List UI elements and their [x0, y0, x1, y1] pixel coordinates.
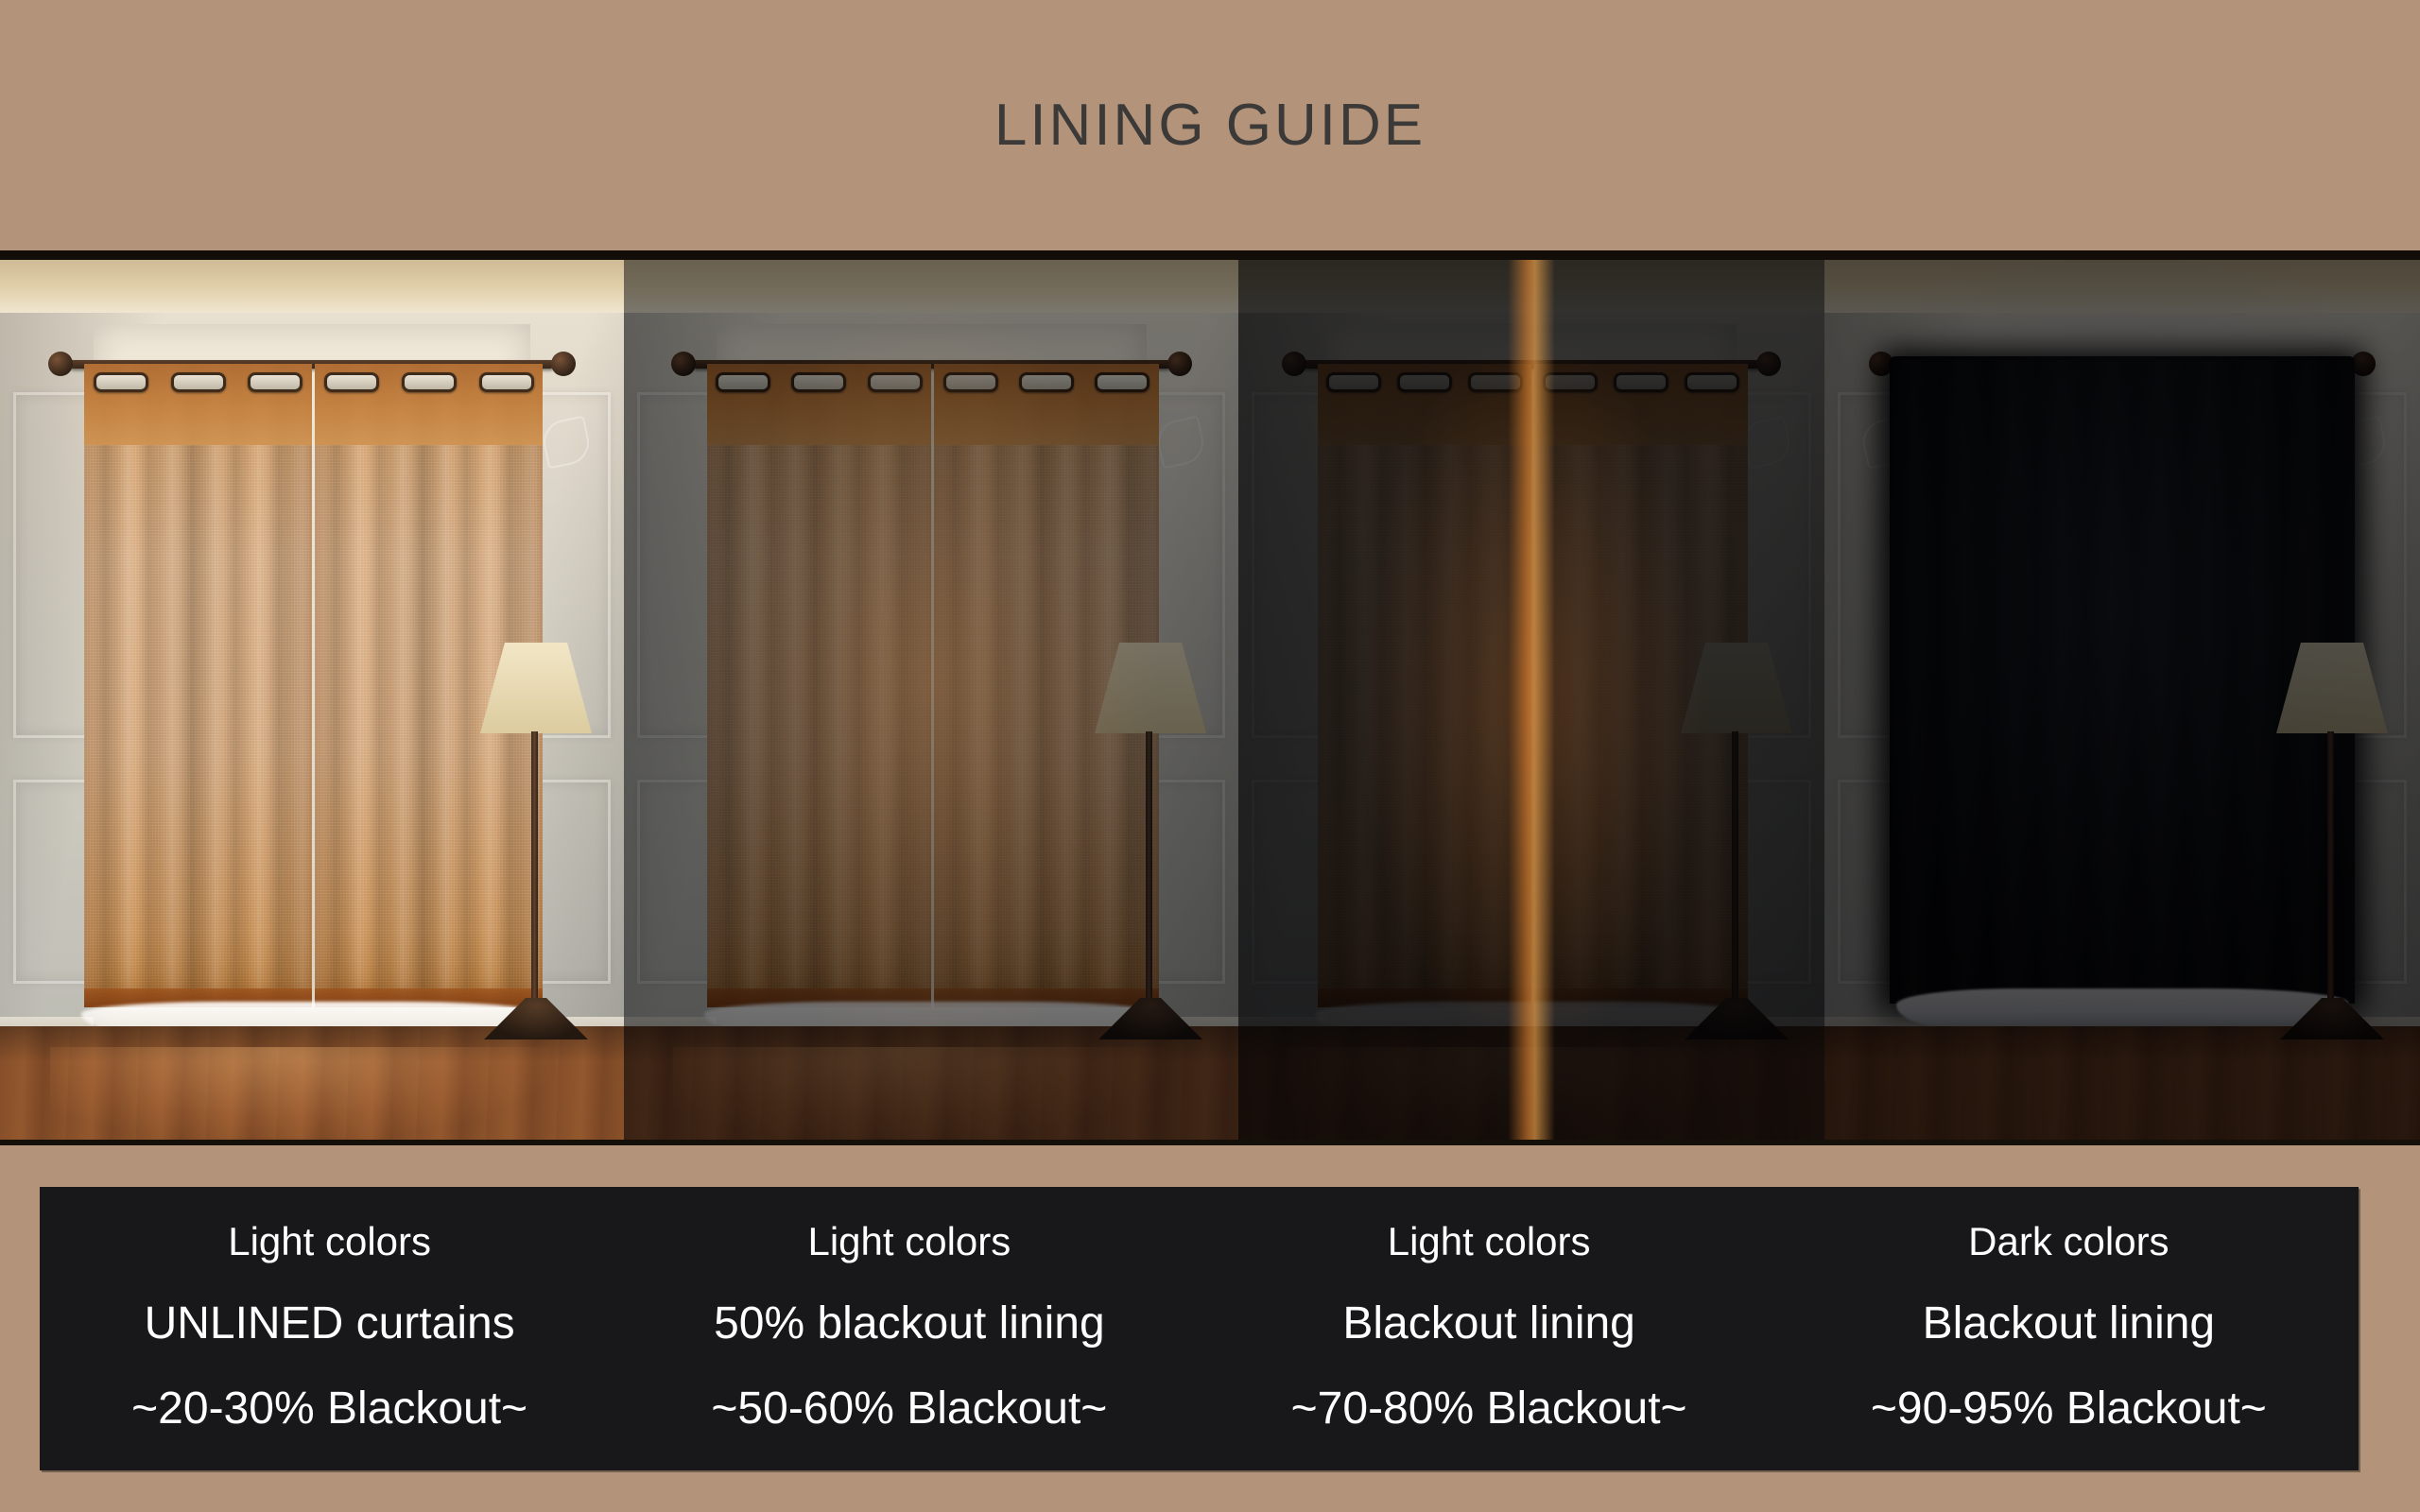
- caption-color-type: Dark colors: [1968, 1221, 2169, 1263]
- curtain-photo-unlined: [0, 250, 624, 1145]
- lamp-base: [484, 998, 588, 1039]
- rod-finial-left-icon: [48, 352, 73, 376]
- grommet-row: [1326, 371, 1523, 392]
- grommet-row: [324, 371, 534, 392]
- room-scene-3: [1238, 250, 1824, 1145]
- curtain-weave-texture: [1318, 364, 1531, 1007]
- grommet-icon: [171, 372, 226, 392]
- caption-column-blackout: Light colors Blackout lining ~70-80% Bla…: [1200, 1187, 1779, 1470]
- curtain-panel-left: [1318, 364, 1531, 1007]
- caption-lining-type: UNLINED curtains: [145, 1300, 515, 1348]
- grommet-icon: [868, 372, 923, 392]
- moulding-ornament-icon: [1154, 416, 1208, 470]
- caption-color-type: Light colors: [807, 1221, 1011, 1263]
- wood-floor: [1824, 1026, 2420, 1145]
- ceiling: [0, 250, 624, 315]
- curtain-photo-dark-blackout: [1824, 250, 2420, 1145]
- grommet-icon: [1685, 372, 1739, 392]
- rod-finial-left-icon: [1282, 352, 1306, 376]
- grommet-icon: [1614, 372, 1668, 392]
- strip-bottom-edge: [0, 1140, 2420, 1145]
- room-scene-2: [624, 250, 1238, 1145]
- caption-color-type: Light colors: [1388, 1221, 1591, 1263]
- lamp-base: [1098, 998, 1202, 1039]
- caption-blackout-range: ~50-60% Blackout~: [711, 1385, 1107, 1433]
- grommet-icon: [1019, 372, 1074, 392]
- room-scene-1: [0, 250, 624, 1145]
- lamp-pole: [1732, 731, 1738, 1004]
- grommet-icon: [1095, 372, 1149, 392]
- curtain-weave-texture: [707, 364, 931, 1007]
- floor-reflection: [673, 1047, 1165, 1138]
- floor-lamp: [1671, 643, 1804, 1039]
- lamp-pole: [2327, 731, 2334, 1004]
- wood-floor: [1238, 1026, 1824, 1145]
- grommet-icon: [1468, 372, 1523, 392]
- ceiling: [1824, 250, 2420, 315]
- grommet-icon: [248, 372, 302, 392]
- grommet-icon: [479, 372, 534, 392]
- rod-finial-left-icon: [671, 352, 696, 376]
- floor-reflection: [50, 1047, 549, 1138]
- curtain-photo-blackout: [1238, 250, 1824, 1145]
- grommet-row: [94, 371, 303, 392]
- wood-floor: [624, 1026, 1238, 1145]
- lamp-shade-icon: [1095, 643, 1206, 733]
- lamp-pole: [531, 731, 538, 1004]
- wood-floor: [0, 1026, 624, 1145]
- page-title: LINING GUIDE: [994, 92, 1426, 159]
- moulding-ornament-icon: [540, 416, 594, 470]
- floor-lamp: [471, 643, 603, 1039]
- title-bar: LINING GUIDE: [0, 0, 2420, 250]
- lamp-base: [1685, 998, 1789, 1039]
- grommet-row: [1543, 371, 1739, 392]
- grommet-icon: [943, 372, 998, 392]
- floor-lamp: [2267, 643, 2399, 1039]
- rod-finial-right-icon: [1167, 352, 1192, 376]
- lining-guide-page: LINING GUIDE: [0, 0, 2420, 1512]
- caption-column-dark-blackout: Dark colors Blackout lining ~90-95% Blac…: [1779, 1187, 2359, 1470]
- curtain-panel-left: [84, 364, 312, 1007]
- lamp-base: [2280, 998, 2384, 1039]
- lamp-shade-icon: [1681, 643, 1792, 733]
- lamp-pole: [1146, 731, 1152, 1004]
- lamp-shade-icon: [2276, 643, 2388, 733]
- lamp-shade-icon: [480, 643, 592, 733]
- caption-blackout-range: ~20-30% Blackout~: [131, 1385, 527, 1433]
- grommet-icon: [1326, 372, 1381, 392]
- comparison-image-strip: [0, 250, 2420, 1145]
- grommet-icon: [716, 372, 770, 392]
- room-scene-4: [1824, 250, 2420, 1145]
- curtain-weave-texture: [84, 364, 312, 1007]
- grommet-icon: [1397, 372, 1452, 392]
- caption-panel: Light colors UNLINED curtains ~20-30% Bl…: [40, 1187, 2359, 1470]
- grommet-icon: [1543, 372, 1598, 392]
- caption-lining-type: Blackout lining: [1923, 1300, 2216, 1348]
- caption-color-type: Light colors: [228, 1221, 431, 1263]
- caption-lining-type: 50% blackout lining: [714, 1300, 1105, 1348]
- curtain-photo-50-blackout: [624, 250, 1238, 1145]
- grommet-row: [943, 371, 1149, 392]
- caption-column-50-blackout: Light colors 50% blackout lining ~50-60%…: [619, 1187, 1199, 1470]
- caption-blackout-range: ~90-95% Blackout~: [1871, 1385, 2267, 1433]
- ceiling: [624, 250, 1238, 315]
- grommet-icon: [402, 372, 457, 392]
- caption-blackout-range: ~70-80% Blackout~: [1291, 1385, 1687, 1433]
- rod-finial-right-icon: [1756, 352, 1781, 376]
- strip-top-edge: [0, 250, 2420, 260]
- grommet-icon: [324, 372, 379, 392]
- grommet-icon: [791, 372, 846, 392]
- grommet-row: [716, 371, 922, 392]
- grommet-icon: [94, 372, 148, 392]
- ceiling: [1238, 250, 1824, 315]
- curtain-panel-left: [707, 364, 931, 1007]
- caption-column-unlined: Light colors UNLINED curtains ~20-30% Bl…: [40, 1187, 619, 1470]
- floor-reflection: [1286, 1047, 1754, 1138]
- floor-lamp: [1085, 643, 1218, 1039]
- caption-lining-type: Blackout lining: [1342, 1300, 1635, 1348]
